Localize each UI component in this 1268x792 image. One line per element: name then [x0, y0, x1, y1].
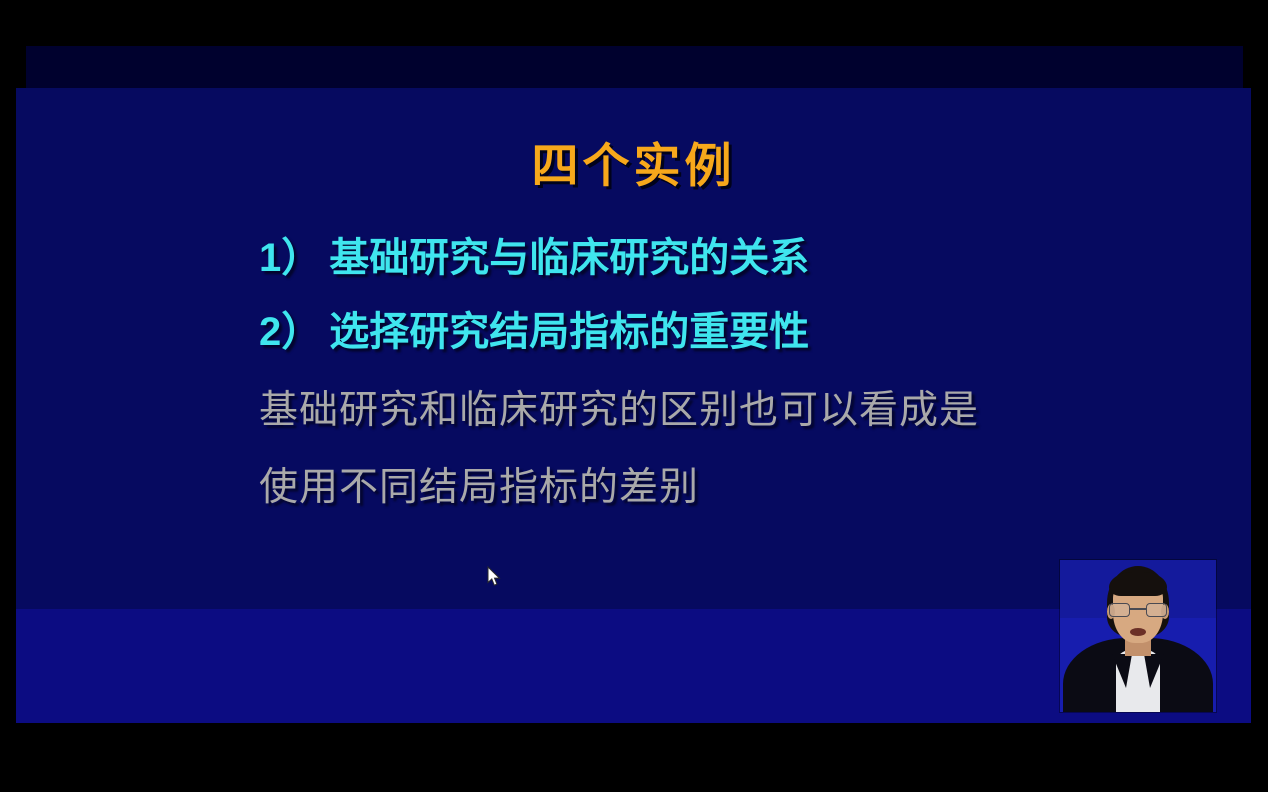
bullet-item-2: 2）选择研究结局指标的重要性	[259, 312, 1199, 352]
glasses-bridge	[1130, 608, 1146, 610]
presenter-webcam-overlay[interactable]	[1060, 560, 1216, 712]
glasses-lens-right	[1146, 603, 1167, 617]
video-player-screen: 四个实例 1）基础研究与临床研究的关系 2）选择研究结局指标的重要性 基础研究和…	[0, 0, 1268, 792]
presenter-collar-left	[1112, 654, 1132, 688]
glasses-lens-left	[1109, 603, 1130, 617]
slide-top-band	[26, 46, 1243, 89]
presentation-slide: 四个实例 1）基础研究与临床研究的关系 2）选择研究结局指标的重要性 基础研究和…	[16, 88, 1251, 723]
slide-note-block: 基础研究和临床研究的区别也可以看成是 使用不同结局指标的差别	[259, 391, 1219, 545]
bullet-marker-1: 1）	[259, 238, 321, 278]
slide-title: 四个实例	[16, 140, 1251, 192]
bullet-item-1: 1）基础研究与临床研究的关系	[259, 238, 1199, 278]
slide-bullet-list: 1）基础研究与临床研究的关系 2）选择研究结局指标的重要性	[259, 238, 1199, 386]
presenter-glasses	[1109, 603, 1167, 617]
presenter-mouth	[1130, 628, 1146, 636]
presenter-collar-right	[1144, 654, 1164, 688]
presenter-fringe	[1109, 572, 1167, 596]
note-line-1: 基础研究和临床研究的区别也可以看成是	[259, 391, 1219, 430]
bullet-marker-2: 2）	[259, 312, 321, 352]
note-line-2: 使用不同结局指标的差别	[259, 468, 1219, 507]
bullet-text-2: 选择研究结局指标的重要性	[329, 312, 809, 352]
bullet-text-1: 基础研究与临床研究的关系	[329, 238, 809, 278]
